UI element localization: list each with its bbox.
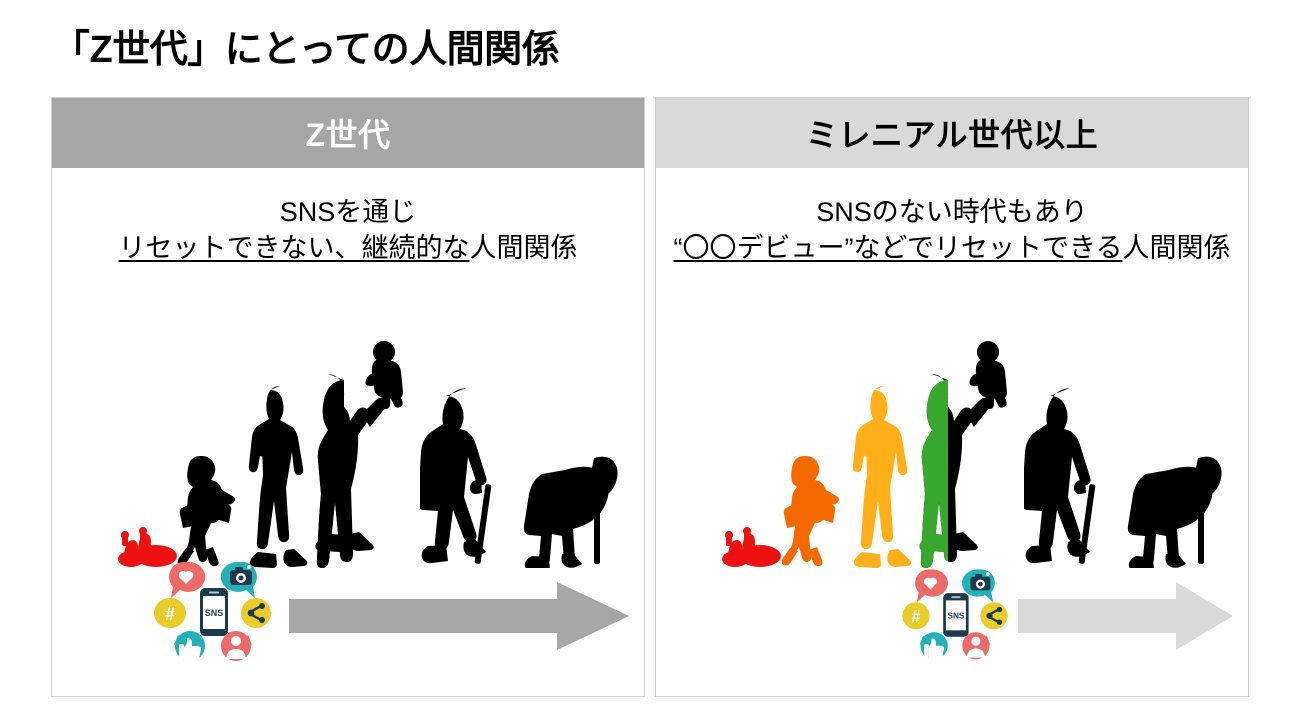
thumbs-up-bubble-icon	[174, 631, 205, 662]
share-bubble-icon	[980, 602, 1008, 629]
hashtag-bubble-icon: #	[154, 598, 186, 628]
panel-header-z-generation: Z世代	[52, 98, 644, 168]
person-bubble-icon	[962, 632, 990, 659]
sns-cluster-icon: # SNS	[148, 556, 278, 666]
lifted-baby	[365, 341, 403, 409]
panel-body-millennial-and-older: SNSのない時代もあり “〇〇デビュー”などでリセットできる人間関係	[656, 168, 1248, 696]
figure-school-girl	[778, 452, 846, 568]
heart-bubble-icon	[169, 562, 205, 598]
school-girl-icon	[778, 452, 846, 568]
figure-elderly-with-cane	[420, 386, 520, 568]
figure-stooped-elderly	[522, 440, 630, 568]
caption-millennial-and-older: SNSのない時代もあり “〇〇デビュー”などでリセットできる人間関係	[656, 194, 1248, 267]
panel-header-label: ミレニアル世代以上	[806, 110, 1098, 156]
stooped-elderly-icon	[1126, 440, 1234, 568]
figure-school-girl	[174, 452, 242, 568]
figure-elderly-with-cane	[1024, 386, 1124, 568]
sns-cluster-z-generation: # SNS	[148, 556, 278, 666]
phone-icon: SNS	[200, 588, 228, 636]
caption-underlined-text: リセットできない、継続的な	[119, 233, 470, 263]
figure-stooped-elderly	[1126, 440, 1234, 568]
figure-mother-lifting-child	[314, 338, 422, 568]
caption-plain-text: 人間関係	[470, 233, 578, 263]
phone-icon: SNS	[943, 593, 968, 637]
hashtag-bubble-icon: #	[901, 602, 929, 629]
svg-text:#: #	[165, 604, 175, 624]
caption-underlined-text: “〇〇デビュー”などでリセットできる	[674, 233, 1123, 263]
caption-line-1: SNSのない時代もあり	[656, 194, 1248, 230]
figure-crawling-baby	[720, 526, 782, 568]
panel-header-millennial-and-older: ミレニアル世代以上	[656, 98, 1248, 168]
school-girl-icon	[174, 452, 242, 568]
panel-header-label: Z世代	[305, 110, 390, 156]
phone-label: SNS	[205, 608, 224, 618]
caption-line-1: SNSを通じ	[52, 194, 644, 230]
sns-cluster-icon: # SNS	[896, 564, 1014, 664]
young-woman-icon	[248, 384, 316, 568]
figure-row-millennial-and-older	[656, 308, 1248, 568]
panel-z-generation: Z世代 SNSを通じ リセットできない、継続的な人間関係	[51, 97, 645, 697]
timeline-arrow-millennial-and-older	[1018, 582, 1233, 650]
mother-lifting-child-icon	[918, 338, 1026, 568]
figure-young-woman	[248, 384, 316, 568]
elderly-with-cane-icon	[420, 386, 520, 568]
caption-line-2: “〇〇デビュー”などでリセットできる人間関係	[656, 230, 1248, 266]
svg-text:#: #	[911, 608, 920, 626]
page-title: 「Z世代」にとっての人間関係	[52, 18, 559, 73]
arrow-right-icon	[289, 582, 629, 650]
panel-body-z-generation: SNSを通じ リセットできない、継続的な人間関係	[52, 168, 644, 696]
mother-lifting-child-icon	[314, 338, 422, 568]
heart-bubble-icon	[915, 569, 948, 602]
figure-mother-lifting-child	[918, 338, 1026, 568]
panel-millennial-and-older: ミレニアル世代以上 SNSのない時代もあり “〇〇デビュー”などでリセットできる…	[655, 97, 1249, 697]
sns-cluster-millennial-and-older: # SNS	[896, 564, 1014, 664]
young-woman-icon	[852, 384, 920, 568]
elderly-with-cane-icon	[1024, 386, 1124, 568]
caption-z-generation: SNSを通じ リセットできない、継続的な人間関係	[52, 194, 644, 267]
arrow-right-icon	[1018, 582, 1233, 650]
figure-row-z-generation	[52, 308, 644, 568]
lifted-baby	[969, 341, 1007, 409]
phone-label: SNS	[948, 612, 965, 621]
slide-root: 「Z世代」にとっての人間関係 Z世代 SNSを通じ リセットできない、継続的な人…	[0, 0, 1300, 718]
caption-plain-text: 人間関係	[1122, 233, 1230, 263]
thumbs-up-bubble-icon	[920, 632, 948, 660]
figure-young-woman	[852, 384, 920, 568]
stooped-elderly-icon	[522, 440, 630, 568]
share-bubble-icon	[241, 598, 272, 628]
crawling-baby-icon	[720, 526, 782, 568]
timeline-arrow-z-generation	[289, 582, 629, 650]
caption-line-2: リセットできない、継続的な人間関係	[52, 230, 644, 266]
person-bubble-icon	[221, 631, 252, 661]
